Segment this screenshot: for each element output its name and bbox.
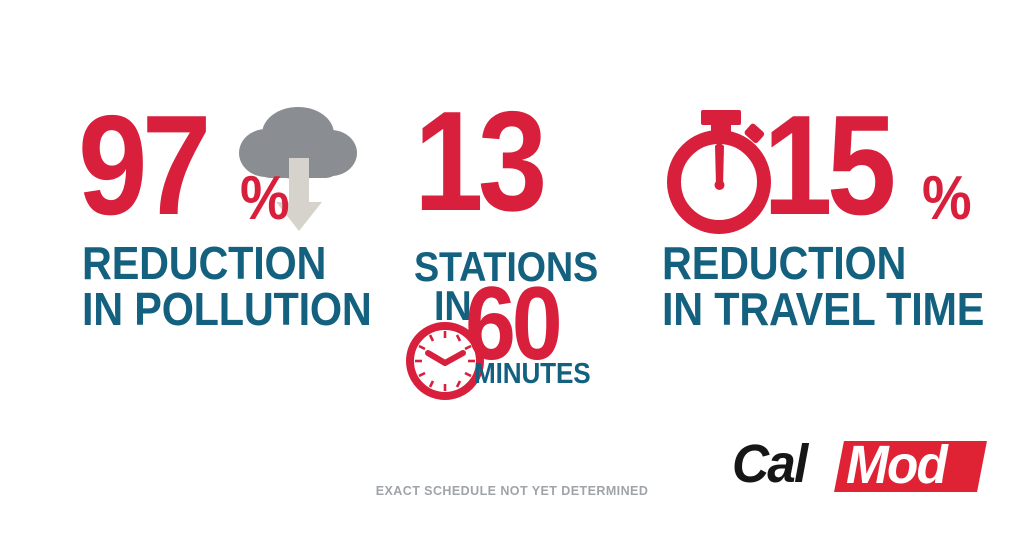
stat-number-97: 97 — [78, 108, 206, 224]
logo-text-cal: Cal — [732, 437, 806, 491]
stat-number-15: 15 — [763, 108, 891, 224]
caption-minutes: MINUTES — [474, 360, 591, 388]
percent-sign-97: % — [240, 168, 289, 230]
stat-number-13: 13 — [414, 104, 542, 220]
calmod-logo: Cal Mod — [732, 435, 982, 497]
stat-panel-pollution: 97 % REDUCTION IN POLLUTION — [0, 0, 392, 400]
caption-reduction-travel-line1: REDUCTION — [662, 241, 906, 286]
caption-reduction-pollution-line2: IN POLLUTION — [82, 287, 372, 332]
caption-reduction-pollution-line1: REDUCTION — [82, 241, 326, 286]
infographic-canvas: 97 % REDUCTION IN POLLUTION 13 STATIONS … — [0, 0, 1024, 536]
percent-sign-15: % — [922, 168, 971, 230]
caption-reduction-travel-line2: IN TRAVEL TIME — [662, 287, 984, 332]
clock-icon — [406, 322, 484, 400]
stat-panel-stations: 13 STATIONS IN 60 — [392, 0, 622, 410]
stat-panel-travel-time: 15 % REDUCTION IN TRAVEL TIME — [622, 0, 1024, 400]
logo-text-mod: Mod — [846, 438, 946, 492]
